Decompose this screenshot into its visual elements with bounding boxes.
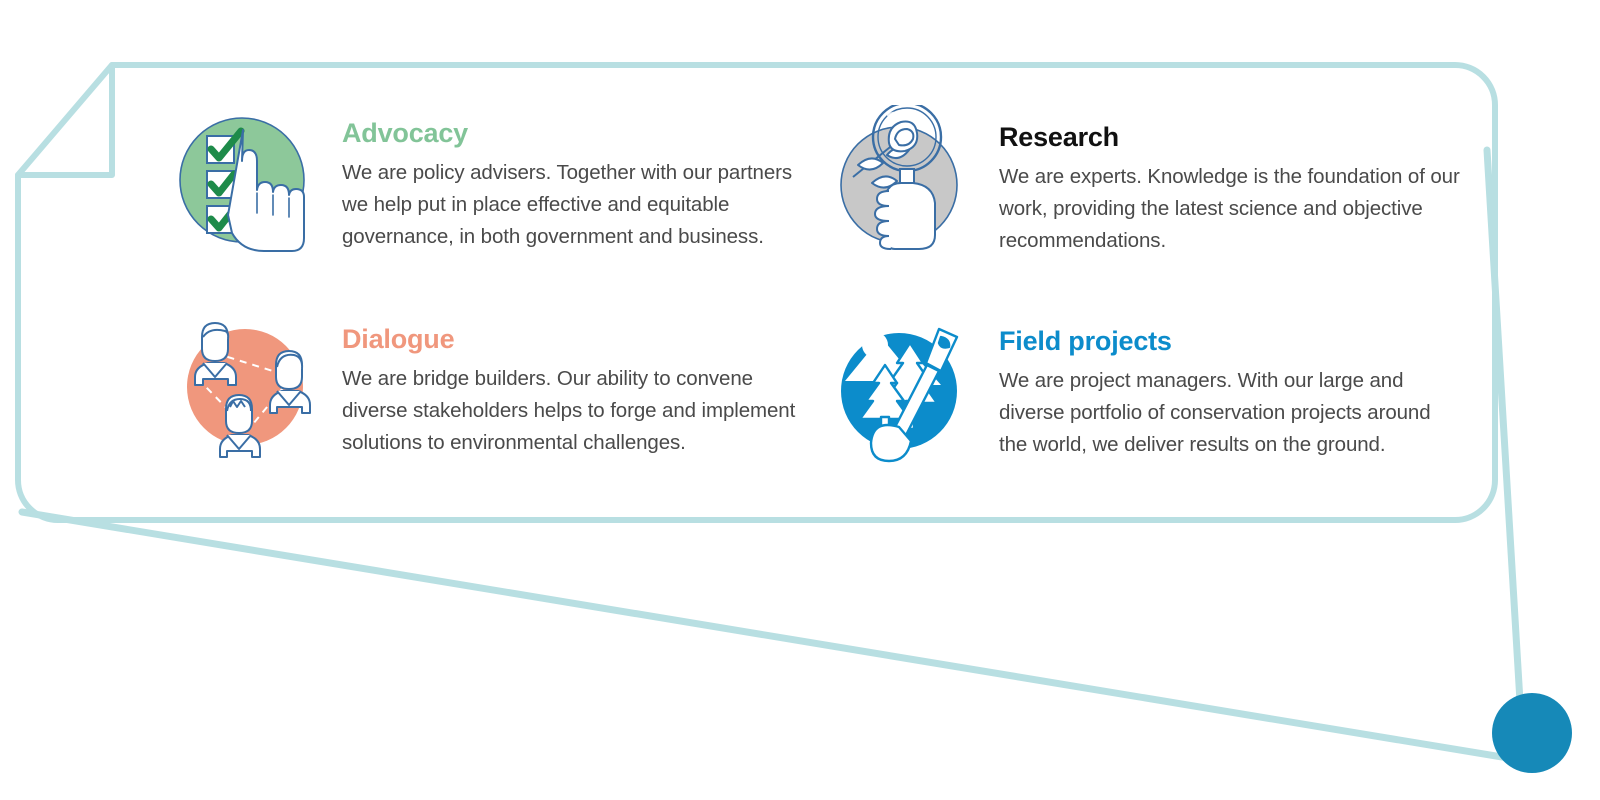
card-body-field-projects: We are project managers. With our large … [999, 365, 1460, 461]
card-text-advocacy: Advocacy We are policy advisers. Togethe… [342, 105, 803, 253]
bubble-tail-lower [22, 512, 1520, 760]
card-research: Research We are experts. Knowledge is th… [827, 105, 1460, 305]
checklist-hand-icon [170, 105, 320, 255]
callout-graphic: Advocacy We are policy advisers. Togethe… [0, 0, 1600, 800]
accent-dot [1492, 693, 1572, 773]
card-text-field-projects: Field projects We are project managers. … [999, 315, 1460, 461]
card-title-research: Research [999, 123, 1460, 153]
card-body-dialogue: We are bridge builders. Our ability to c… [342, 363, 803, 459]
cards-grid: Advocacy We are policy advisers. Togethe… [170, 105, 1460, 515]
card-title-dialogue: Dialogue [342, 325, 803, 355]
magnifying-glass-flower-icon [827, 105, 977, 255]
mountain-trees-shovel-icon [827, 315, 977, 465]
card-dialogue: Dialogue We are bridge builders. Our abi… [170, 315, 803, 515]
card-title-advocacy: Advocacy [342, 119, 803, 149]
card-text-research: Research We are experts. Knowledge is th… [999, 105, 1460, 257]
three-people-network-icon [170, 315, 320, 465]
card-advocacy: Advocacy We are policy advisers. Togethe… [170, 105, 803, 305]
card-text-dialogue: Dialogue We are bridge builders. Our abi… [342, 315, 803, 459]
card-body-advocacy: We are policy advisers. Together with ou… [342, 157, 803, 253]
card-field-projects: Field projects We are project managers. … [827, 315, 1460, 515]
card-body-research: We are experts. Knowledge is the foundat… [999, 161, 1460, 257]
card-title-field-projects: Field projects [999, 327, 1460, 357]
